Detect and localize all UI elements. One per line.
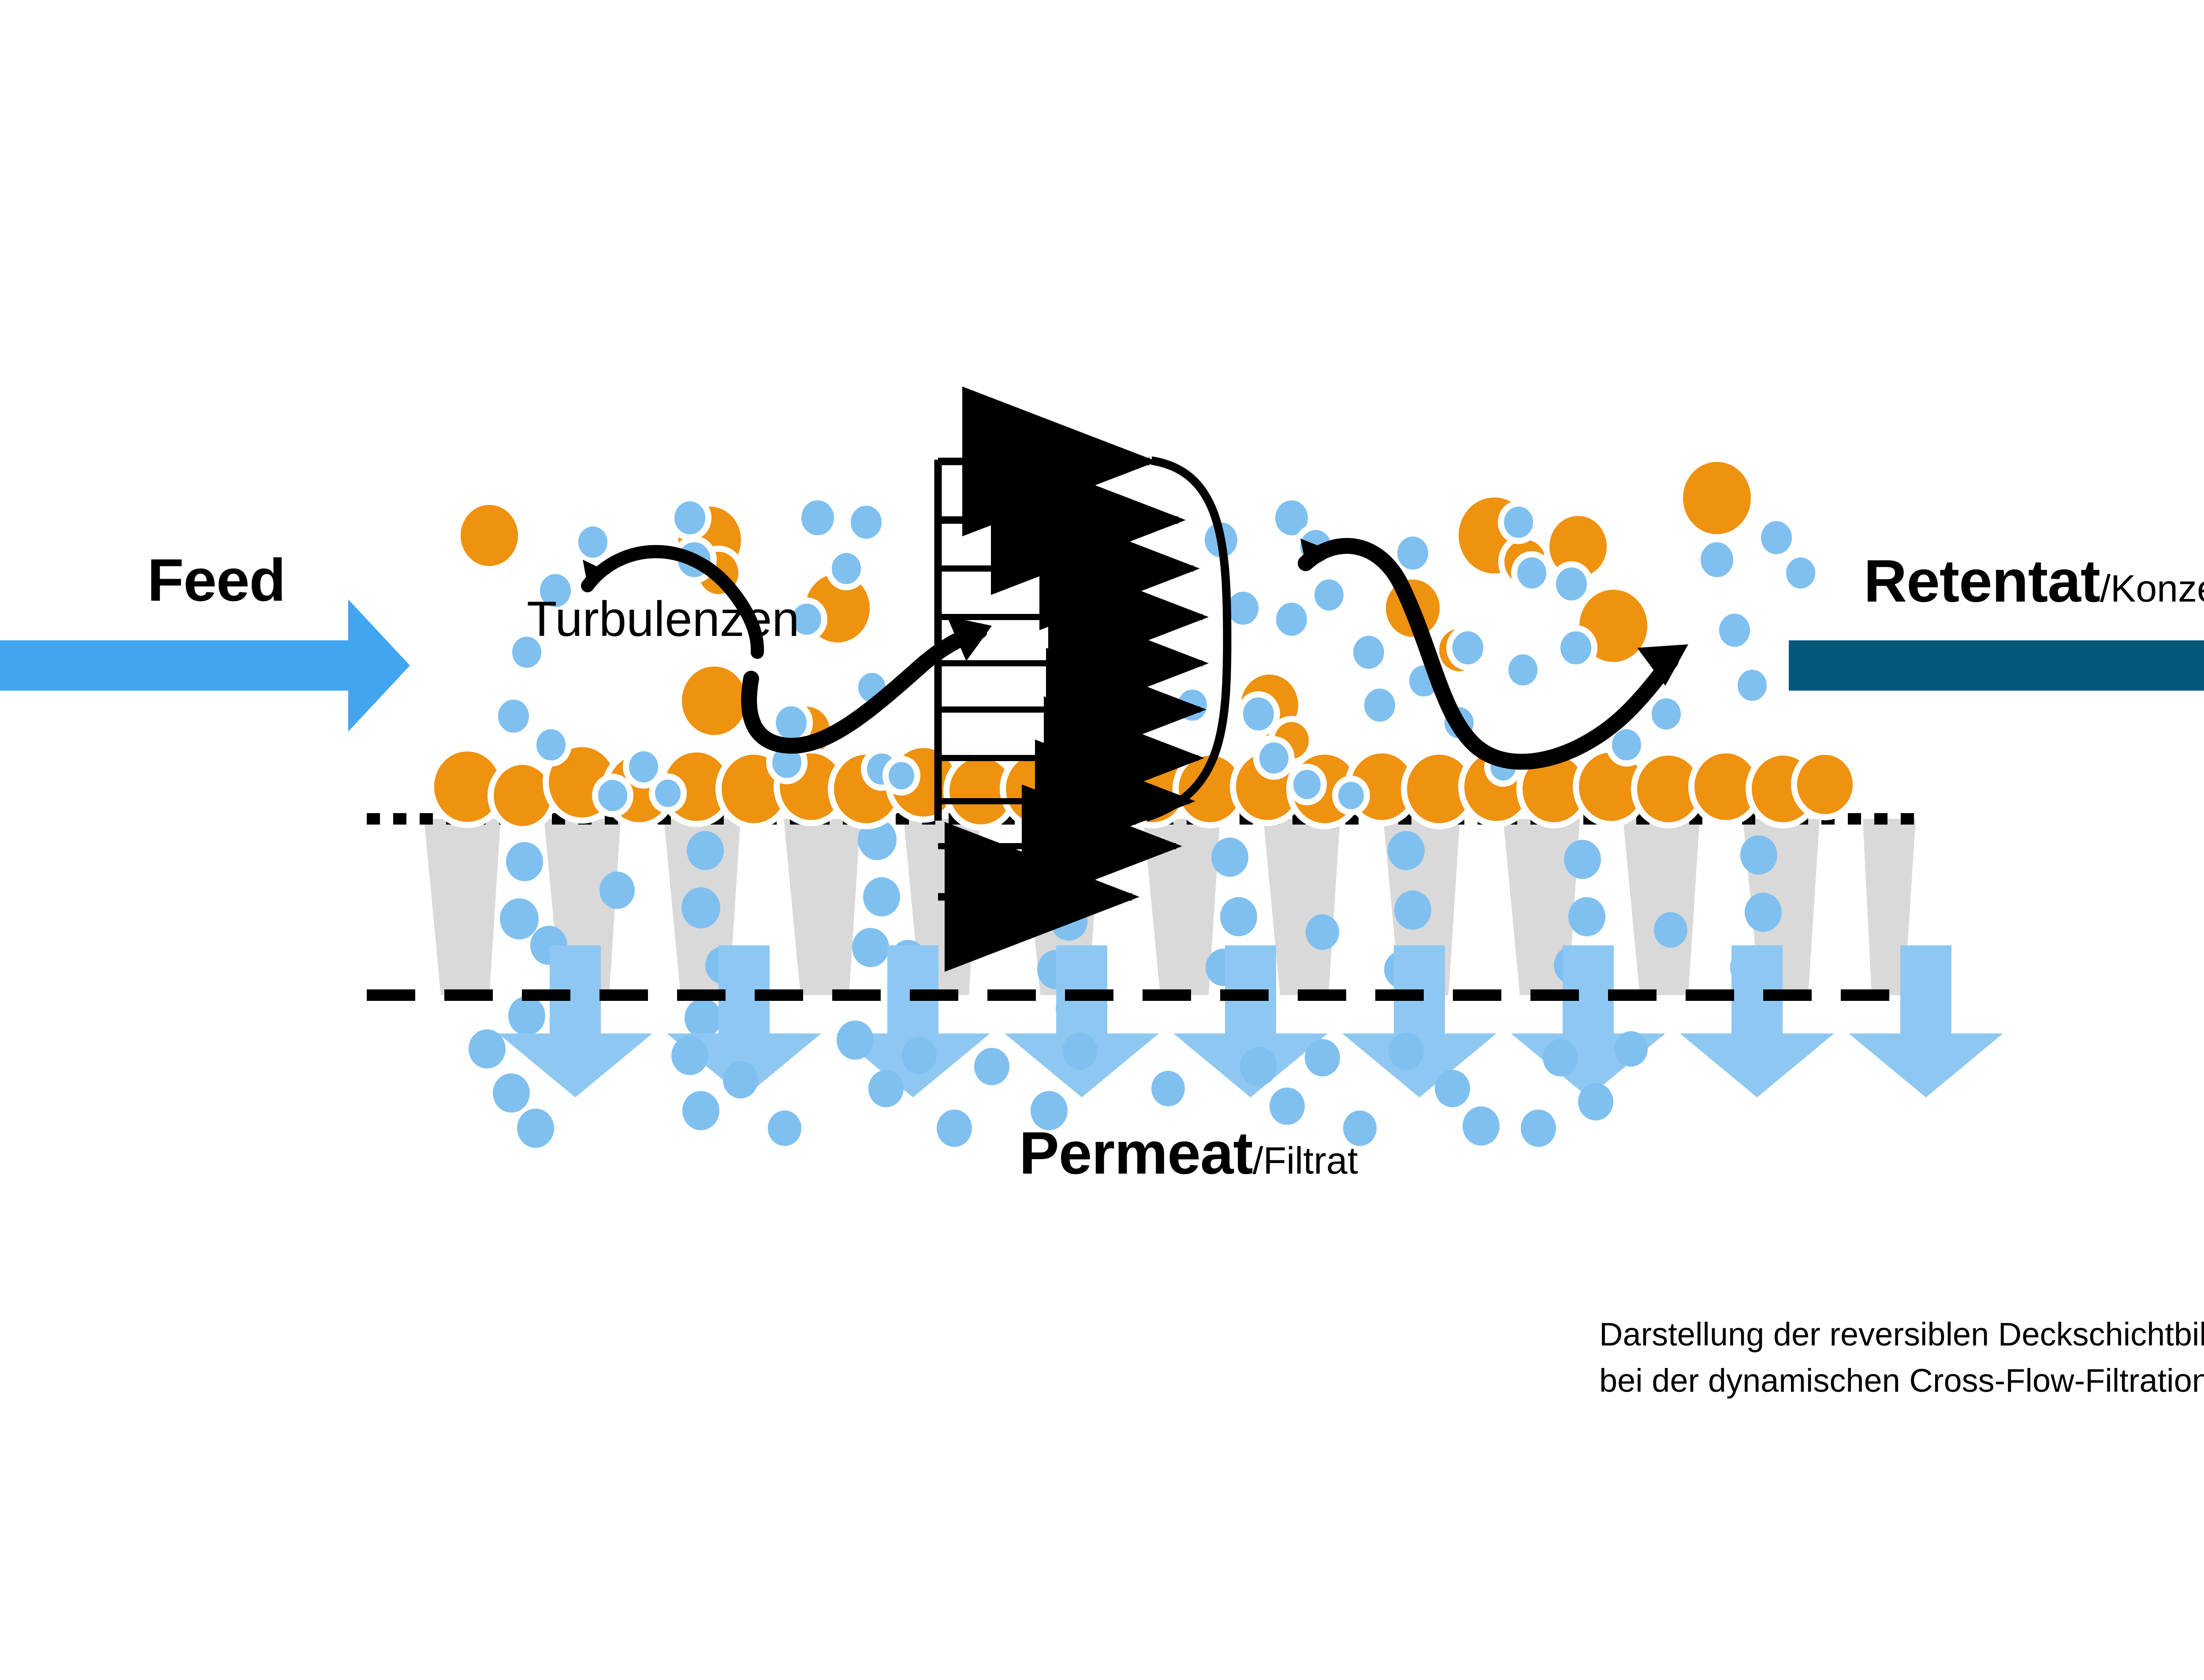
blue-particle: [1350, 632, 1387, 672]
permeate-arrow: [1680, 945, 1834, 1097]
blue-particle: [671, 1036, 708, 1075]
cross-flow-filtration-diagram: [0, 0, 2204, 1680]
blue-particle: [1654, 912, 1687, 948]
blue-particle: [829, 550, 864, 587]
permeat-label: Permeat: [1019, 1119, 1253, 1187]
blue-particle: [1394, 533, 1431, 572]
blue-particle: [1514, 554, 1549, 592]
blue-particle: [974, 1048, 1009, 1085]
blue-particle: [1463, 1106, 1500, 1145]
retentat-flow-arrow: [1789, 599, 2204, 732]
blue-particle: [863, 877, 900, 916]
feed-label: Feed: [147, 546, 285, 614]
blue-particle: [1175, 687, 1210, 724]
diagram-canvas: Feed Turbulenzen Retentat/Konzentrat Per…: [0, 0, 2204, 1680]
blue-particle: [682, 1091, 719, 1130]
blue-particle: [1305, 1039, 1340, 1077]
blue-particle: [1783, 554, 1818, 592]
blue-particle: [506, 842, 543, 881]
blue-particle: [495, 696, 532, 736]
blue-particle: [493, 1073, 530, 1112]
blue-particle: [1578, 1083, 1613, 1121]
blue-particle: [1335, 779, 1367, 812]
retentat-label: Retentat: [1864, 546, 2100, 615]
blue-particle: [723, 1061, 758, 1099]
blue-particle: [1394, 890, 1431, 929]
blue-particle: [1553, 564, 1590, 603]
permeat-sublabel: /Filtrat: [1253, 1139, 1358, 1183]
blue-particle: [1211, 837, 1248, 877]
blue-particle: [837, 1020, 874, 1059]
orange-particle: [679, 663, 749, 738]
blue-particle: [1758, 518, 1795, 557]
blue-particle: [1389, 1033, 1424, 1070]
permeate-arrow: [1005, 945, 1159, 1097]
blue-particle: [1273, 599, 1310, 639]
blue-particle: [500, 898, 539, 939]
blue-particle: [1735, 667, 1770, 704]
orange-particle: [1680, 459, 1754, 537]
blue-particle: [1745, 892, 1782, 932]
blue-particle: [575, 524, 611, 561]
blue-particle: [1039, 844, 1076, 883]
blue-particle: [652, 777, 684, 810]
blue-particle: [848, 502, 885, 542]
orange-particle: [1794, 752, 1856, 817]
blue-particle: [1240, 694, 1277, 733]
blue-particle: [1614, 1031, 1648, 1067]
blue-particle: [1740, 835, 1777, 874]
blue-particle: [798, 497, 837, 538]
blue-particle: [595, 777, 630, 814]
blue-particle: [1050, 901, 1087, 940]
blue-particle: [1543, 1039, 1578, 1077]
blue-particle: [868, 1070, 904, 1108]
blue-particle: [1557, 628, 1594, 667]
blue-particle: [1290, 767, 1324, 803]
blue-particle: [1240, 1047, 1277, 1086]
figure-caption: Darstellung der reversiblen Deckschichtb…: [1599, 1311, 2204, 1404]
blue-particle: [1062, 1033, 1098, 1070]
blue-particle: [768, 1111, 801, 1146]
blue-particle: [1698, 539, 1736, 580]
blue-particle: [1311, 576, 1347, 614]
blue-particle: [1716, 610, 1753, 650]
caption-line-2: bei der dynamischen Cross-Flow-Filtratio…: [1599, 1357, 2204, 1404]
blue-particle: [469, 1029, 506, 1068]
blue-particle: [533, 726, 569, 764]
blue-particle: [1361, 685, 1398, 725]
blue-particle: [852, 928, 889, 967]
blue-particle: [687, 831, 724, 870]
blue-particle: [1220, 897, 1257, 936]
blue-particle: [517, 1108, 554, 1148]
blue-particle: [1306, 914, 1339, 950]
blue-particle: [1649, 695, 1684, 733]
permeate-arrow: [1342, 945, 1497, 1097]
permeat-label-group: Permeat/Filtrat: [1019, 1119, 1358, 1187]
blue-particle: [937, 1110, 972, 1147]
retentat-label-group: Retentat/Konzentrat: [1864, 546, 2204, 615]
blue-particle: [1521, 1110, 1556, 1147]
feed-flow-arrow: [0, 599, 410, 732]
blue-particle: [1564, 840, 1601, 879]
blue-particle: [685, 998, 722, 1037]
blue-particle: [1256, 740, 1292, 777]
blue-particle: [886, 759, 917, 792]
blue-particle: [599, 872, 635, 909]
blue-particle: [508, 996, 545, 1035]
blue-particle: [1388, 831, 1425, 870]
blue-particle: [1435, 1070, 1470, 1108]
blue-particle: [1501, 504, 1536, 541]
blue-particle: [1568, 897, 1605, 936]
turbulenzen-label: Turbulenzen: [527, 591, 799, 647]
caption-line-1: Darstellung der reversiblen Deckschichtb…: [1599, 1311, 2204, 1357]
blue-particle: [901, 1037, 937, 1074]
blue-particle: [1449, 628, 1486, 667]
orange-particle: [458, 502, 521, 569]
retentat-sublabel: /Konzentrat: [2100, 567, 2204, 611]
blue-particle: [671, 498, 708, 537]
blue-particle: [681, 887, 720, 928]
blue-particle: [1505, 651, 1541, 689]
blue-particle: [1151, 1071, 1185, 1107]
